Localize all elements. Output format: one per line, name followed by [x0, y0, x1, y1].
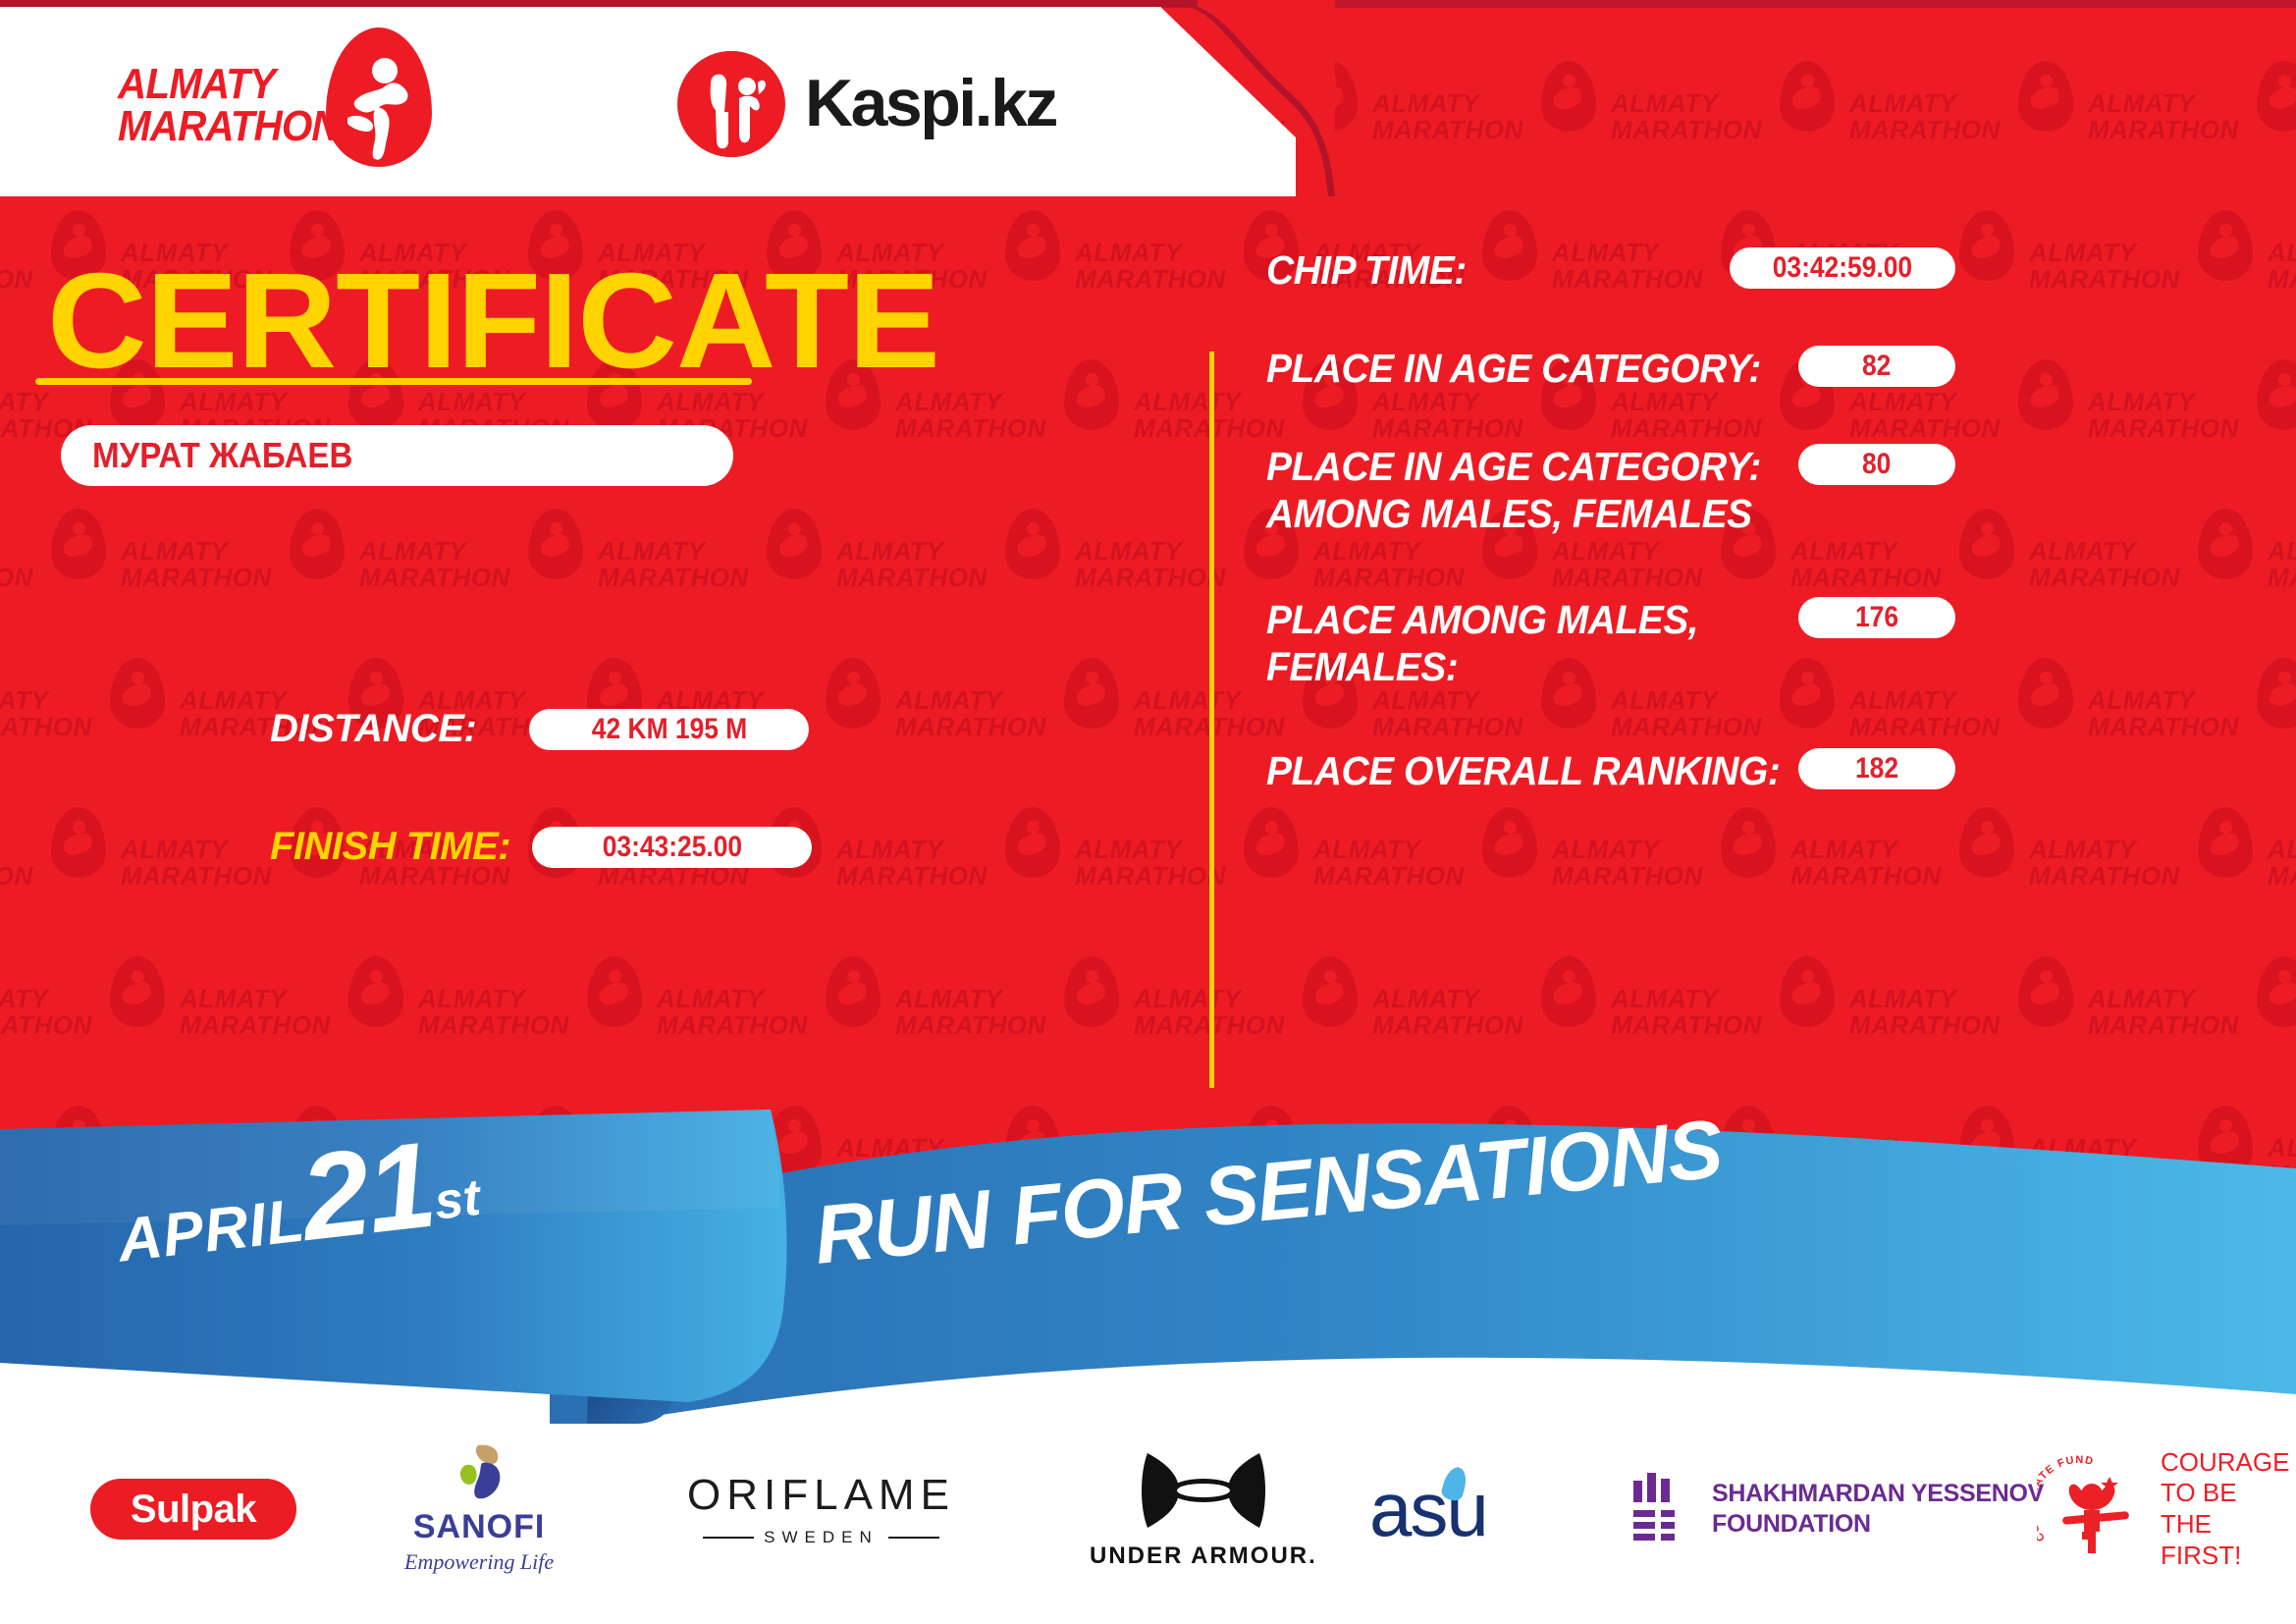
watermark-tile: ALMATYMARATHON [121, 538, 366, 590]
watermark-tile: ALMATYMARATHON [2029, 837, 2274, 889]
watermark-tile: ALMATYMARATHON [1849, 687, 2095, 739]
watermark-tile: ALMATYMARATHON [1134, 986, 1379, 1038]
watermark-tile: ALMATYMARATHON [1611, 389, 1856, 441]
watermark-tile: ALMATYMARATHON [1790, 837, 2036, 889]
event-ribbon: APRIL21st RUN FOR SENSATIONS [0, 1100, 2296, 1424]
almaty-marathon-logo: ALMATY MARATHON [118, 41, 442, 169]
yessenov-label-line1: SHAKHMARDAN YESSENOV [1712, 1479, 2044, 1509]
sponsor-bar: Sulpak SANOFI Empowering Life ORIFLAME [0, 1426, 2296, 1624]
watermark-tile: ALMATYMARATHON [1611, 986, 1856, 1038]
watermark-drop-icon [2018, 956, 2073, 1027]
watermark-drop-icon [2198, 807, 2253, 878]
watermark-tile: ALMATYMARATHON [1134, 389, 1379, 441]
result-row-place-age-among: PLACE IN AGE CATEGORY: AMONG MALES, FEMA… [1266, 444, 1787, 537]
watermark-drop-icon [1959, 807, 2014, 878]
watermark-drop-icon [348, 956, 403, 1027]
chip-time-value: 03:42:59.00 [1773, 251, 1912, 285]
watermark-drop-icon [110, 956, 165, 1027]
place-among-value-pill: 176 [1798, 597, 1955, 638]
watermark-drop-icon [1005, 210, 1060, 281]
watermark-tile: ALMATYMARATHON [1134, 687, 1379, 739]
place-age-among-label-line1: PLACE IN AGE CATEGORY: [1266, 444, 1761, 491]
place-age-among-label: PLACE IN AGE CATEGORY: AMONG MALES, FEMA… [1266, 444, 1761, 537]
sponsor-courage: CORPORATE FUND COURAGE TO BE THE FIRST! [2037, 1426, 2296, 1593]
watermark-tile: ALMATYMARATHON [2088, 986, 2296, 1038]
header-curve-shape [1080, 0, 1335, 196]
courage-logo: CORPORATE FUND COURAGE TO BE THE FIRST! [2037, 1447, 2296, 1572]
watermark-tile: ALMATYMARATHON [1611, 687, 1856, 739]
marathon-logo-line1: ALMATY [118, 63, 340, 105]
watermark-tile: ALMATYMARATHON [598, 538, 843, 590]
sulpak-logo: Sulpak [90, 1479, 296, 1540]
watermark-tile: ALMATYMARATHON [1849, 389, 2095, 441]
watermark-drop-icon [1780, 956, 1835, 1027]
finish-time-value-pill: 03:43:25.00 [532, 827, 812, 868]
watermark-tile: ALMATYMARATHON [180, 986, 425, 1038]
watermark-drop-icon [51, 807, 106, 878]
watermark-drop-icon [2257, 658, 2296, 729]
title-underline [35, 378, 752, 385]
finish-time-value: 03:43:25.00 [602, 831, 741, 864]
sponsor-oriflame: ORIFLAME SWEDEN [687, 1426, 955, 1593]
watermark-drop-icon [2018, 61, 2073, 132]
watermark-tile: ALMATYMARATHON [359, 538, 605, 590]
watermark-tile: ALMATYMARATHON [1611, 90, 1856, 142]
sponsor-asu: asu [1369, 1426, 1487, 1593]
watermark-tile: ALMATYMARATHON [1849, 986, 2095, 1038]
watermark-drop-icon [826, 956, 881, 1027]
finish-time-label: FINISH TIME: [270, 825, 510, 869]
watermark-tile: ALMATYMARATHON [0, 538, 128, 590]
watermark-drop-icon [1482, 807, 1537, 878]
watermark-drop-icon [1541, 61, 1596, 132]
watermark-tile: ALMATYMARATHON [1372, 687, 1618, 739]
under-armour-logo: UNDER ARMOUR. [1090, 1449, 1317, 1570]
watermark-drop-icon [1482, 210, 1537, 281]
distance-row: DISTANCE: 42 KM 195 M [270, 707, 809, 751]
watermark-tile: ALMATYMARATHON [2268, 240, 2296, 292]
sponsor-sanofi: SANOFI Empowering Life [404, 1426, 554, 1593]
courage-mark-icon: CORPORATE FUND [2037, 1455, 2147, 1563]
sulpak-label: Sulpak [131, 1488, 256, 1532]
sponsor-sulpak: Sulpak [90, 1426, 296, 1593]
chip-time-value-pill: 03:42:59.00 [1730, 247, 1955, 289]
distance-value: 42 KM 195 M [592, 713, 747, 746]
watermark-drop-icon [1721, 807, 1776, 878]
watermark-drop-icon [1780, 658, 1835, 729]
watermark-tile: ALMATYMARATHON [1075, 538, 1320, 590]
column-divider [1209, 352, 1214, 1088]
courage-label-line3: THE FIRST! [2161, 1509, 2296, 1571]
watermark-drop-icon [1064, 658, 1119, 729]
watermark-tile: ALMATYMARATHON [895, 687, 1141, 739]
watermark-drop-icon [2018, 359, 2073, 430]
watermark-drop-icon [826, 658, 881, 729]
yessenov-mark-icon [1629, 1473, 1690, 1545]
watermark-drop-icon [2198, 509, 2253, 579]
watermark-drop-icon [1959, 509, 2014, 579]
watermark-drop-icon [290, 509, 345, 579]
yessenov-label-line2: FOUNDATION [1712, 1509, 2044, 1540]
watermark-drop-icon [1244, 807, 1299, 878]
watermark-tile: ALMATYMARATHON [2268, 837, 2296, 889]
place-among-label-line2: FEMALES: [1266, 644, 1698, 691]
ribbon-day-suffix: st [432, 1169, 484, 1231]
watermark-tile: ALMATYMARATHON [836, 538, 1082, 590]
result-row-place-among: PLACE AMONG MALES, FEMALES: [1266, 597, 1721, 690]
athlete-name-field: МУРАТ ЖАБАЕВ [61, 425, 733, 486]
overall-rank-label: PLACE OVERALL RANKING: [1266, 748, 1780, 795]
watermark-tile: ALMATYMARATHON [1552, 837, 1797, 889]
kaspi-wordmark: Kaspi.kz [805, 65, 1056, 141]
watermark-drop-icon [767, 509, 822, 579]
watermark-drop-icon [1541, 956, 1596, 1027]
asu-label: asu [1369, 1465, 1487, 1554]
oriflame-rule-left [703, 1537, 754, 1539]
oriflame-sub: SWEDEN [687, 1528, 955, 1547]
watermark-drop-icon [51, 509, 106, 579]
watermark-tile: ALMATYMARATHON [0, 986, 187, 1038]
chip-time-label: CHIP TIME: [1266, 247, 1467, 295]
watermark-tile: ALMATYMARATHON [2088, 687, 2296, 739]
watermark-tile: ALMATYMARATHON [0, 687, 187, 739]
watermark-tile: ALMATYMARATHON [1075, 837, 1320, 889]
watermark-tile: ALMATYMARATHON [895, 986, 1141, 1038]
place-age-among-value: 80 [1862, 448, 1891, 481]
watermark-drop-icon [2257, 359, 2296, 430]
watermark-line1: ALMATY [2268, 240, 2296, 266]
overall-rank-value-pill: 182 [1798, 748, 1955, 789]
watermark-drop-icon [1959, 210, 2014, 281]
oriflame-tagline: SWEDEN [764, 1528, 879, 1547]
sponsor-yessenov: SHAKHMARDAN YESSENOV FOUNDATION [1629, 1426, 2044, 1593]
watermark-tile: ALMATYMARATHON [836, 837, 1082, 889]
watermark-drop-icon [1005, 807, 1060, 878]
yessenov-label: SHAKHMARDAN YESSENOV FOUNDATION [1712, 1479, 2044, 1541]
oriflame-label: ORIFLAME [687, 1471, 955, 1520]
certificate-page: ALMATYMARATHONALMATYMARATHONALMATYMARATH… [0, 0, 2296, 1624]
watermark-drop-icon [110, 658, 165, 729]
watermark-tile: ALMATYMARATHON [0, 837, 128, 889]
watermark-line2: MARATHON [2268, 266, 2296, 293]
watermark-drop-icon [1303, 956, 1358, 1027]
watermark-tile: ALMATYMARATHON [2029, 240, 2274, 292]
watermark-drop-icon [2018, 658, 2073, 729]
watermark-line1: ALMATY [2268, 837, 2296, 863]
result-row-chip-time: CHIP TIME: [1266, 247, 1476, 295]
oriflame-logo: ORIFLAME SWEDEN [687, 1471, 955, 1547]
header-logos: ALMATY MARATHON Kaspi.kz [0, 0, 1080, 196]
watermark-drop-icon [1064, 956, 1119, 1027]
watermark-tile: ALMATYMARATHON [2029, 538, 2274, 590]
result-row-overall: PLACE OVERALL RANKING: [1266, 748, 1807, 795]
almaty-marathon-wordmark: ALMATY MARATHON [118, 63, 340, 147]
sanofi-tagline: Empowering Life [404, 1549, 554, 1575]
marathon-logo-line2: MARATHON [118, 105, 340, 147]
top-rule [0, 0, 1198, 7]
watermark-tile: ALMATYMARATHON [657, 986, 902, 1038]
sanofi-label: SANOFI [404, 1508, 554, 1546]
watermark-line2: MARATHON [2268, 863, 2296, 890]
place-age-value: 82 [1862, 350, 1891, 383]
place-among-label-line1: PLACE AMONG MALES, [1266, 597, 1698, 644]
page-title: CERTIFICATE [47, 244, 939, 400]
watermark-tile: ALMATYMARATHON [1313, 538, 1559, 590]
watermark-tile: ALMATYMARATHON [2088, 389, 2296, 441]
distance-value-pill: 42 KM 195 M [529, 709, 809, 750]
marathon-drop-icon [326, 27, 432, 167]
watermark-tile: ALMATYMARATHON [1372, 90, 1618, 142]
watermark-drop-icon [1064, 359, 1119, 430]
watermark-tile: ALMATYMARATHON [2088, 90, 2296, 142]
courage-label-line1: COURAGE [2161, 1447, 2296, 1479]
watermark-line2: MARATHON [2268, 565, 2296, 591]
watermark-drop-icon [2257, 61, 2296, 132]
place-age-value-pill: 82 [1798, 346, 1955, 387]
asu-logo: asu [1369, 1465, 1487, 1554]
place-age-among-value-pill: 80 [1798, 444, 1955, 485]
watermark-tile: ALMATYMARATHON [1552, 538, 1797, 590]
courage-label-line2: TO BE [2161, 1478, 2296, 1509]
watermark-drop-icon [1005, 509, 1060, 579]
sponsor-under-armour: UNDER ARMOUR. [1090, 1426, 1317, 1593]
watermark-drop-icon [2198, 210, 2253, 281]
ribbon-month: APRIL [115, 1186, 309, 1274]
watermark-tile: ALMATYMARATHON [1790, 538, 2036, 590]
place-age-among-label-line2: AMONG MALES, FEMALES [1266, 491, 1761, 538]
athlete-name: МУРАТ ЖАБАЕВ [92, 435, 352, 476]
place-among-value: 176 [1855, 601, 1898, 634]
watermark-tile: ALMATYMARATHON [1313, 837, 1559, 889]
watermark-line1: ALMATY [2268, 538, 2296, 565]
watermark-tile: ALMATYMARATHON [1372, 986, 1618, 1038]
watermark-drop-icon [587, 956, 642, 1027]
place-age-label: PLACE IN AGE CATEGORY: [1266, 346, 1761, 393]
oriflame-rule-right [888, 1537, 939, 1539]
watermark-drop-icon [528, 509, 583, 579]
watermark-drop-icon [1780, 61, 1835, 132]
watermark-drop-icon [2257, 956, 2296, 1027]
overall-rank-value: 182 [1855, 752, 1898, 785]
kaspi-badge-icon [677, 51, 785, 157]
courage-label: COURAGE TO BE THE FIRST! [2161, 1447, 2296, 1572]
finish-time-row: FINISH TIME: 03:43:25.00 [270, 825, 812, 869]
kaspi-logo: Kaspi.kz [677, 51, 1090, 159]
place-among-label: PLACE AMONG MALES, FEMALES: [1266, 597, 1698, 690]
result-row-place-age: PLACE IN AGE CATEGORY: [1266, 346, 1787, 393]
watermark-tile: ALMATYMARATHON [1849, 90, 2095, 142]
ribbon-day: 21 [294, 1117, 441, 1267]
under-armour-label: UNDER ARMOUR. [1090, 1543, 1317, 1570]
under-armour-mark-icon [1090, 1449, 1317, 1537]
watermark-tile: ALMATYMARATHON [1372, 389, 1618, 441]
sanofi-logo: SANOFI Empowering Life [404, 1443, 554, 1575]
sanofi-mark-icon [445, 1443, 513, 1504]
yessenov-logo: SHAKHMARDAN YESSENOV FOUNDATION [1629, 1473, 2044, 1545]
distance-label: DISTANCE: [270, 707, 476, 751]
watermark-tile: ALMATYMARATHON [2268, 538, 2296, 590]
watermark-tile: ALMATYMARATHON [418, 986, 664, 1038]
